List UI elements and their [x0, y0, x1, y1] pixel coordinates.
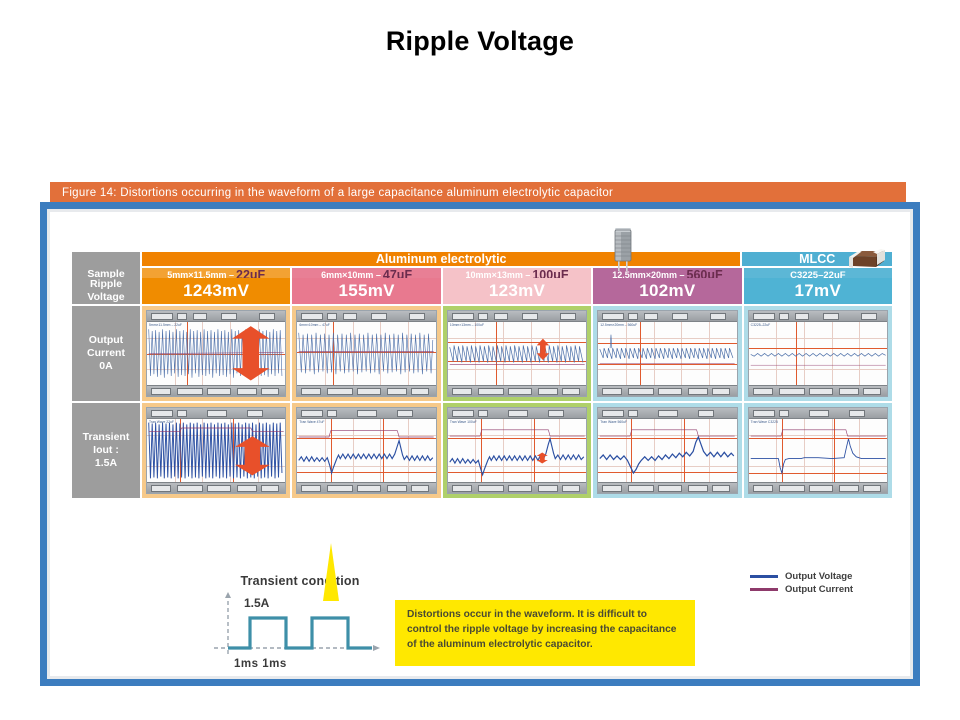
- scope-cell-r2c5[interactable]: Tran Wave C3225: [744, 403, 892, 500]
- scope-toolbar-bottom[interactable]: [598, 385, 736, 396]
- waveform-trace-r2c2: [297, 419, 435, 482]
- transient-condition-title: Transient condition: [200, 574, 400, 588]
- scope-cell-r1c2[interactable]: 6mm×10mm – 47uF: [292, 306, 442, 403]
- scope-annotation-r2c1: Tran Wave 22uF: [149, 420, 174, 424]
- oscilloscope-panel-r1c2[interactable]: 6mm×10mm – 47uF: [296, 310, 436, 397]
- ripple-amplitude-arrow-r2c1: [233, 435, 272, 477]
- callout-text: Distortions occur in the waveform. It is…: [407, 609, 676, 650]
- scope-toolbar-bottom[interactable]: [297, 482, 435, 493]
- scope-cell-r2c2[interactable]: Tran Wave 47uF: [292, 403, 442, 500]
- waveform-trace-r1c4: [598, 322, 736, 385]
- legend-item-output-current: Output Current: [750, 583, 900, 596]
- legend-swatch-output-voltage: [750, 575, 778, 578]
- group-header-aluminum-electrolytic: Aluminum electrolytic: [142, 252, 742, 268]
- ripple-value-col1: 1243mV: [142, 278, 292, 306]
- scope-annotation-r1c3: 10mm×13mm – 100uF: [450, 323, 484, 327]
- row-label-ripple-voltage-text: Ripple Voltage: [87, 278, 124, 304]
- scope-annotation-r1c1: 5mm×11.5mm – 22uF: [149, 323, 182, 327]
- oscilloscope-panel-r2c2[interactable]: Tran Wave 47uF: [296, 407, 436, 494]
- waveform-trace-r1c3: [448, 322, 586, 385]
- oscilloscope-panel-r2c1[interactable]: Tran Wave 22uF: [146, 407, 286, 494]
- scope-plot-r2c5: Tran Wave C3225: [749, 419, 887, 482]
- scope-annotation-r2c4: Tran Wave 560uF: [600, 420, 627, 424]
- comparison-table: Sample Aluminum electrolytic: [72, 252, 892, 500]
- ripple-value-col2: 155mV: [292, 278, 442, 306]
- legend-swatch-output-current: [750, 588, 778, 591]
- ripple-amplitude-arrow-r1c1: [230, 325, 272, 382]
- scope-plot-r1c5: C3225–22uF: [749, 322, 887, 385]
- group-header-aluminum-label: Aluminum electrolytic: [376, 252, 507, 266]
- transient-time-label: 1ms 1ms: [234, 658, 287, 670]
- oscilloscope-panel-r1c4[interactable]: 12.5mm×20mm – 560uF: [597, 310, 737, 397]
- scope-toolbar-top[interactable]: [598, 408, 736, 419]
- legend-label-output-current: Output Current: [785, 584, 853, 595]
- mlcc-chip-capacitor-icon: [848, 248, 886, 272]
- scope-toolbar-bottom[interactable]: [448, 385, 586, 396]
- scope-toolbar-top[interactable]: [297, 311, 435, 322]
- scope-annotation-r1c4: 12.5mm×20mm – 560uF: [600, 323, 637, 327]
- scope-plot-r2c2: Tran Wave 47uF: [297, 419, 435, 482]
- waveform-trace-r1c5: [749, 322, 887, 385]
- callout-box: Distortions occur in the waveform. It is…: [395, 600, 695, 666]
- oscilloscope-panel-r2c4[interactable]: Tran Wave 560uF: [597, 407, 737, 494]
- scope-toolbar-top[interactable]: [448, 408, 586, 419]
- figure-container: Figure 14: Distortions occurring in the …: [40, 182, 920, 686]
- scope-cell-r1c4[interactable]: 12.5mm×20mm – 560uF: [593, 306, 743, 403]
- ripple-amplitude-arrow-r1c3: [536, 338, 550, 361]
- legend-label-output-voltage: Output Voltage: [785, 571, 852, 582]
- scope-annotation-r2c2: Tran Wave 47uF: [299, 420, 324, 424]
- row-label-transient-text: Transient Iout : 1.5A: [83, 431, 130, 470]
- row-label-output-current: Output Current 0A: [72, 306, 142, 403]
- scope-toolbar-bottom[interactable]: [297, 385, 435, 396]
- row-label-transient: Transient Iout : 1.5A: [72, 403, 142, 500]
- row-label-ripple-voltage: Ripple Voltage: [72, 278, 142, 306]
- transient-pulse-waveform: [208, 592, 398, 662]
- ripple-amplitude-arrow-r2c3: [536, 452, 548, 464]
- waveform-trace-r2c5: [749, 419, 887, 482]
- table-transient-row: Transient Iout : 1.5A: [72, 403, 892, 500]
- scope-toolbar-bottom[interactable]: [147, 482, 285, 493]
- group-header-mlcc-label: MLCC: [799, 252, 835, 266]
- oscilloscope-panel-r1c5[interactable]: C3225–22uF: [748, 310, 888, 397]
- scope-cell-r2c3[interactable]: Tran Wave 100uF: [443, 403, 593, 500]
- waveform-trace-r2c4: [598, 419, 736, 482]
- scope-annotation-r2c3: Tran Wave 100uF: [450, 420, 477, 424]
- scope-plot-r2c1: Tran Wave 22uF: [147, 419, 285, 482]
- scope-plot-r1c4: 12.5mm×20mm – 560uF: [598, 322, 736, 385]
- scope-toolbar-bottom[interactable]: [749, 385, 887, 396]
- scope-cell-r2c4[interactable]: Tran Wave 560uF: [593, 403, 743, 500]
- row-label-output-current-text: Output Current 0A: [87, 334, 125, 373]
- scope-toolbar-top[interactable]: [448, 311, 586, 322]
- scope-toolbar-bottom[interactable]: [448, 482, 586, 493]
- scope-toolbar-top[interactable]: [749, 408, 887, 419]
- scope-annotation-r1c5: C3225–22uF: [751, 323, 771, 327]
- scope-plot-r1c1: 5mm×11.5mm – 22uF: [147, 322, 285, 385]
- ripple-value-col3: 123mV: [443, 278, 593, 306]
- transient-condition-diagram: Transient condition 1.5A 1ms 1ms: [200, 574, 400, 684]
- waveform-trace-r1c2: [297, 322, 435, 385]
- table-output-current-row: Output Current 0A: [72, 306, 892, 403]
- legend-item-output-voltage: Output Voltage: [750, 570, 900, 583]
- scope-plot-r2c4: Tran Wave 560uF: [598, 419, 736, 482]
- table-group-header-row: Sample Aluminum electrolytic: [72, 252, 892, 278]
- scope-toolbar-bottom[interactable]: [749, 482, 887, 493]
- oscilloscope-panel-r2c5[interactable]: Tran Wave C3225: [748, 407, 888, 494]
- scope-toolbar-top[interactable]: [598, 311, 736, 322]
- aluminum-electrolytic-capacitor-icon: [612, 226, 634, 272]
- scope-toolbar-top[interactable]: [749, 311, 887, 322]
- oscilloscope-panel-r1c1[interactable]: 5mm×11.5mm – 22uF: [146, 310, 286, 397]
- scope-toolbar-top[interactable]: [147, 408, 285, 419]
- scope-toolbar-top[interactable]: [297, 408, 435, 419]
- oscilloscope-panel-r2c3[interactable]: Tran Wave 100uF: [447, 407, 587, 494]
- waveform-trace-r2c3: [448, 419, 586, 482]
- scope-annotation-r2c5: Tran Wave C3225: [751, 420, 778, 424]
- group-header-mlcc: MLCC: [742, 252, 892, 268]
- scope-cell-r1c5[interactable]: C3225–22uF: [744, 306, 892, 403]
- scope-plot-r1c3: 10mm×13mm – 100uF: [448, 322, 586, 385]
- oscilloscope-panel-r1c3[interactable]: 10mm×13mm – 100uF: [447, 310, 587, 397]
- scope-plot-r1c2: 6mm×10mm – 47uF: [297, 322, 435, 385]
- scope-toolbar-top[interactable]: [147, 311, 285, 322]
- scope-toolbar-bottom[interactable]: [147, 385, 285, 396]
- ripple-value-col5: 17mV: [744, 278, 892, 306]
- scope-cell-r1c1[interactable]: 5mm×11.5mm – 22uF: [142, 306, 292, 403]
- callout-pointer-arrow: [322, 543, 340, 601]
- scope-plot-r2c3: Tran Wave 100uF: [448, 419, 586, 482]
- table-ripple-voltage-row: Ripple Voltage 1243mV 155mV 123mV 102mV …: [72, 278, 892, 306]
- page-title: Ripple Voltage: [0, 26, 960, 57]
- scope-toolbar-bottom[interactable]: [598, 482, 736, 493]
- figure-caption: Figure 14: Distortions occurring in the …: [50, 182, 906, 204]
- figure-inner-panel: Sample Aluminum electrolytic: [47, 209, 913, 679]
- scope-cell-r2c1[interactable]: Tran Wave 22uF: [142, 403, 292, 500]
- scope-cell-r1c3[interactable]: 10mm×13mm – 100uF: [443, 306, 593, 403]
- figure-frame-border: Sample Aluminum electrolytic: [40, 202, 920, 686]
- scope-annotation-r1c2: 6mm×10mm – 47uF: [299, 323, 329, 327]
- legend: Output Voltage Output Current: [750, 570, 900, 596]
- ripple-value-col4: 102mV: [593, 278, 743, 306]
